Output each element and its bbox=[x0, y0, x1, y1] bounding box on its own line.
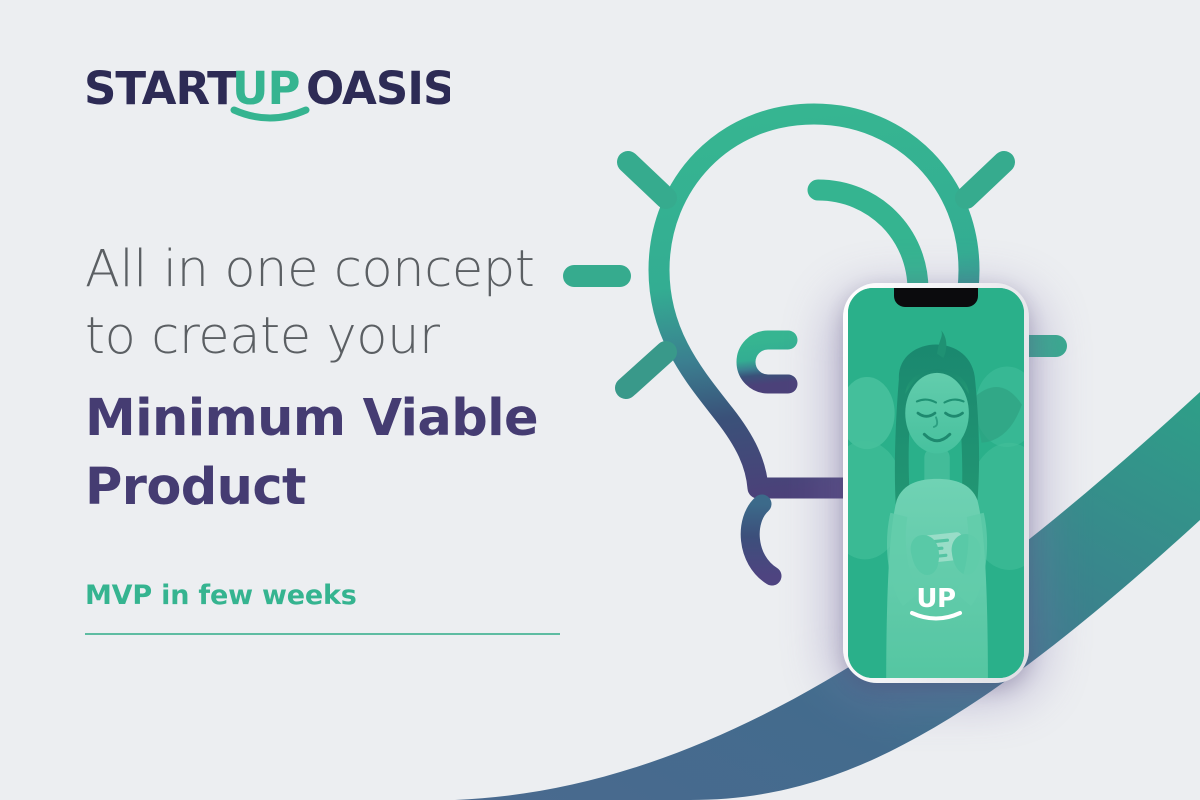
screen-up-logo-text: UP bbox=[916, 584, 955, 614]
logo-text-up: UP bbox=[232, 66, 300, 115]
copy-block: All in one concept to create your Minimu… bbox=[85, 236, 645, 635]
bulb-ray-top-left bbox=[628, 162, 666, 198]
logo-text-oasis: OASIS bbox=[306, 66, 450, 115]
headline: All in one concept to create your bbox=[85, 236, 645, 370]
tagline: MVP in few weeks bbox=[85, 580, 645, 611]
logo[interactable]: START UP OASIS bbox=[84, 66, 450, 122]
bulb-ray-top-right bbox=[966, 162, 1004, 198]
screen-up-logo: UP bbox=[900, 582, 972, 622]
marketing-banner: START UP OASIS bbox=[0, 0, 1200, 800]
phone-screen: UP bbox=[848, 288, 1024, 678]
phone-mockup: UP bbox=[843, 283, 1029, 683]
logo-text-start: START bbox=[84, 66, 238, 115]
tagline-underline bbox=[85, 633, 560, 635]
headline-bold: Minimum Viable Product bbox=[85, 384, 645, 522]
bulb-shine-arc-icon bbox=[818, 190, 918, 290]
phone-notch bbox=[894, 288, 978, 307]
